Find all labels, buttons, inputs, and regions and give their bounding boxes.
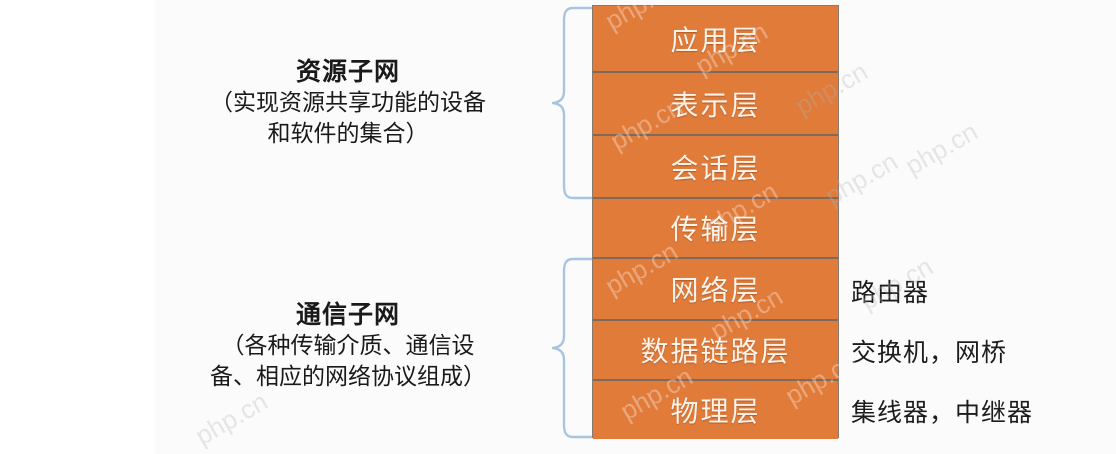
layer-row[interactable]: 数据链路层 xyxy=(593,321,838,381)
resource-subnet-description: （实现资源共享功能的设备 和软件的集合） xyxy=(148,88,548,149)
layer-row[interactable]: 应用层 xyxy=(593,6,838,73)
device-label-physical-layer: 集线器，中继器 xyxy=(851,393,1033,429)
communication-subnet-description: （各种传输介质、通信设 备、相应的网络协议组成） xyxy=(148,331,548,392)
group-resource-subnet: 资源子网 （实现资源共享功能的设备 和软件的集合） xyxy=(148,57,548,149)
layer-row[interactable]: 会话层 xyxy=(593,136,838,199)
brace-communication-subnet xyxy=(551,256,597,445)
group-communication-subnet: 通信子网 （各种传输介质、通信设 备、相应的网络协议组成） xyxy=(148,300,548,392)
device-label-network-layer: 路由器 xyxy=(851,273,929,309)
resource-subnet-title: 资源子网 xyxy=(148,57,548,88)
osi-layer-stack: 应用层 表示层 会话层 传输层 网络层 数据链路层 物理层 xyxy=(592,5,839,438)
communication-subnet-title: 通信子网 xyxy=(148,300,548,331)
brace-resource-subnet xyxy=(551,5,597,206)
device-label-data-link-layer: 交换机，网桥 xyxy=(851,333,1007,369)
layer-row[interactable]: 表示层 xyxy=(593,73,838,136)
layer-row[interactable]: 物理层 xyxy=(593,381,838,439)
layer-row[interactable]: 网络层 xyxy=(593,259,838,321)
layer-row[interactable]: 传输层 xyxy=(593,199,838,259)
